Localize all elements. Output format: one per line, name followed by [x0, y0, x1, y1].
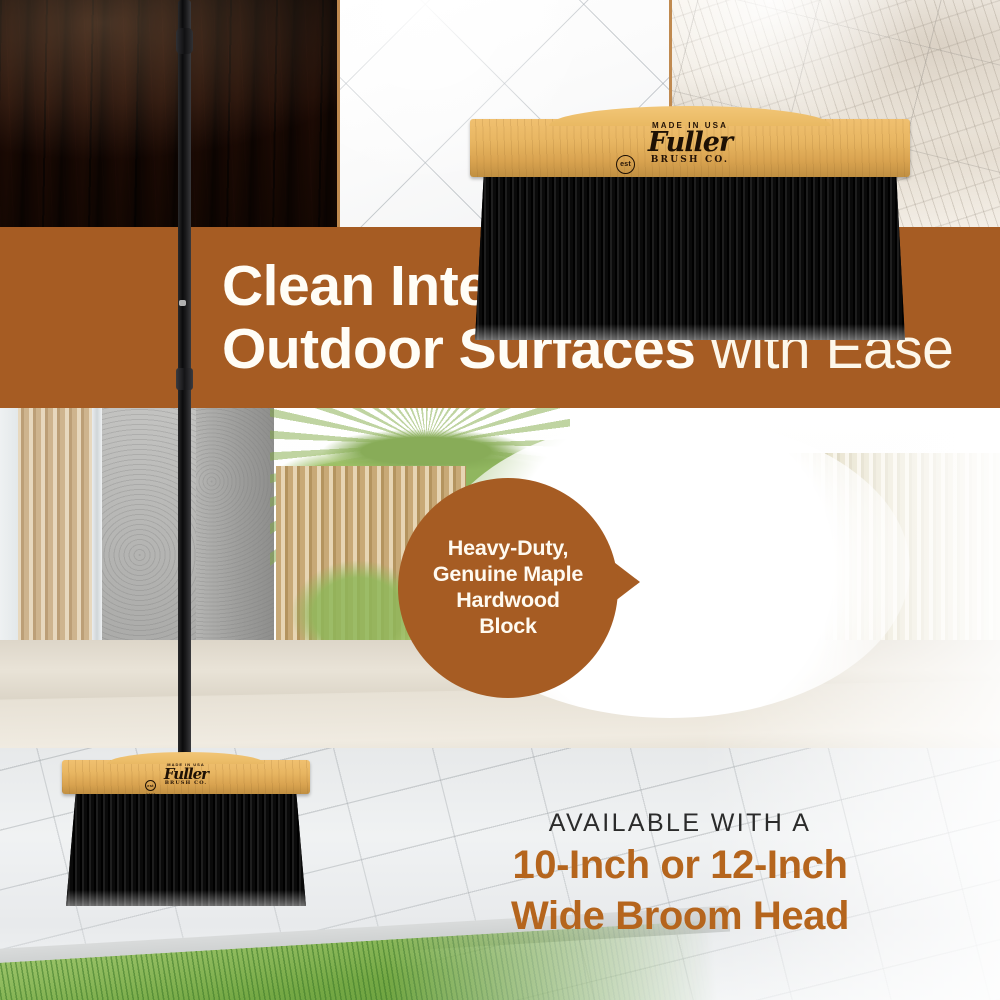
availability-eyebrow: AVAILABLE WITH A	[400, 810, 960, 838]
callout-text-group: Heavy-Duty, Genuine Maple Hardwood Block	[398, 478, 618, 698]
broom-head-small: MADE IN USA Fuller est 1906 BRUSH CO.	[62, 760, 310, 906]
fuller-brush-logo-large: MADE IN USA Fuller est 1906 BRUSH CO.	[470, 121, 910, 165]
fuller-wordmark-small: Fuller	[62, 767, 310, 781]
left-white-wall	[0, 408, 18, 658]
callout-line-1: Heavy-Duty,	[448, 536, 568, 562]
broom-handle-cap	[176, 28, 193, 54]
broom-handle-marking	[179, 300, 186, 306]
broom-bristles-small	[66, 794, 306, 906]
established-badge-small: est 1906	[145, 780, 156, 791]
brush-co-text: BRUSH CO.	[470, 155, 910, 165]
callout-line-4: Block	[479, 614, 537, 640]
broom-handle-grip	[176, 368, 193, 390]
broom-bristles-large	[475, 177, 905, 340]
availability-headline-line-2: Wide Broom Head	[400, 893, 960, 940]
maple-block-small: MADE IN USA Fuller est 1906 BRUSH CO.	[62, 760, 310, 794]
maple-block-large: MADE IN USA Fuller est 1906 BRUSH CO.	[470, 119, 910, 177]
product-marketing-image: Clean Interior Floors or Outdoor Surface…	[0, 0, 1000, 1000]
hardwood-floor-panel	[0, 0, 337, 228]
hardwood-shading-overlay	[0, 0, 337, 228]
availability-headline-line-1: 10-Inch or 12-Inch	[400, 842, 960, 889]
feature-callout-badge: Heavy-Duty, Genuine Maple Hardwood Block	[398, 478, 618, 698]
established-badge: est 1906	[616, 155, 635, 174]
callout-line-3: Hardwood	[456, 588, 560, 614]
availability-text-block: AVAILABLE WITH A 10-Inch or 12-Inch Wide…	[400, 810, 960, 940]
broom-handle	[178, 0, 191, 790]
brush-co-text-small: BRUSH CO.	[62, 780, 310, 786]
callout-line-2: Genuine Maple	[433, 562, 583, 588]
concrete-pillar	[196, 408, 274, 653]
fuller-wordmark: Fuller	[470, 130, 910, 156]
fuller-brush-logo-small: MADE IN USA Fuller est 1906 BRUSH CO.	[62, 762, 310, 786]
broom-head-large: MADE IN USA Fuller est 1906 BRUSH CO.	[470, 119, 910, 340]
